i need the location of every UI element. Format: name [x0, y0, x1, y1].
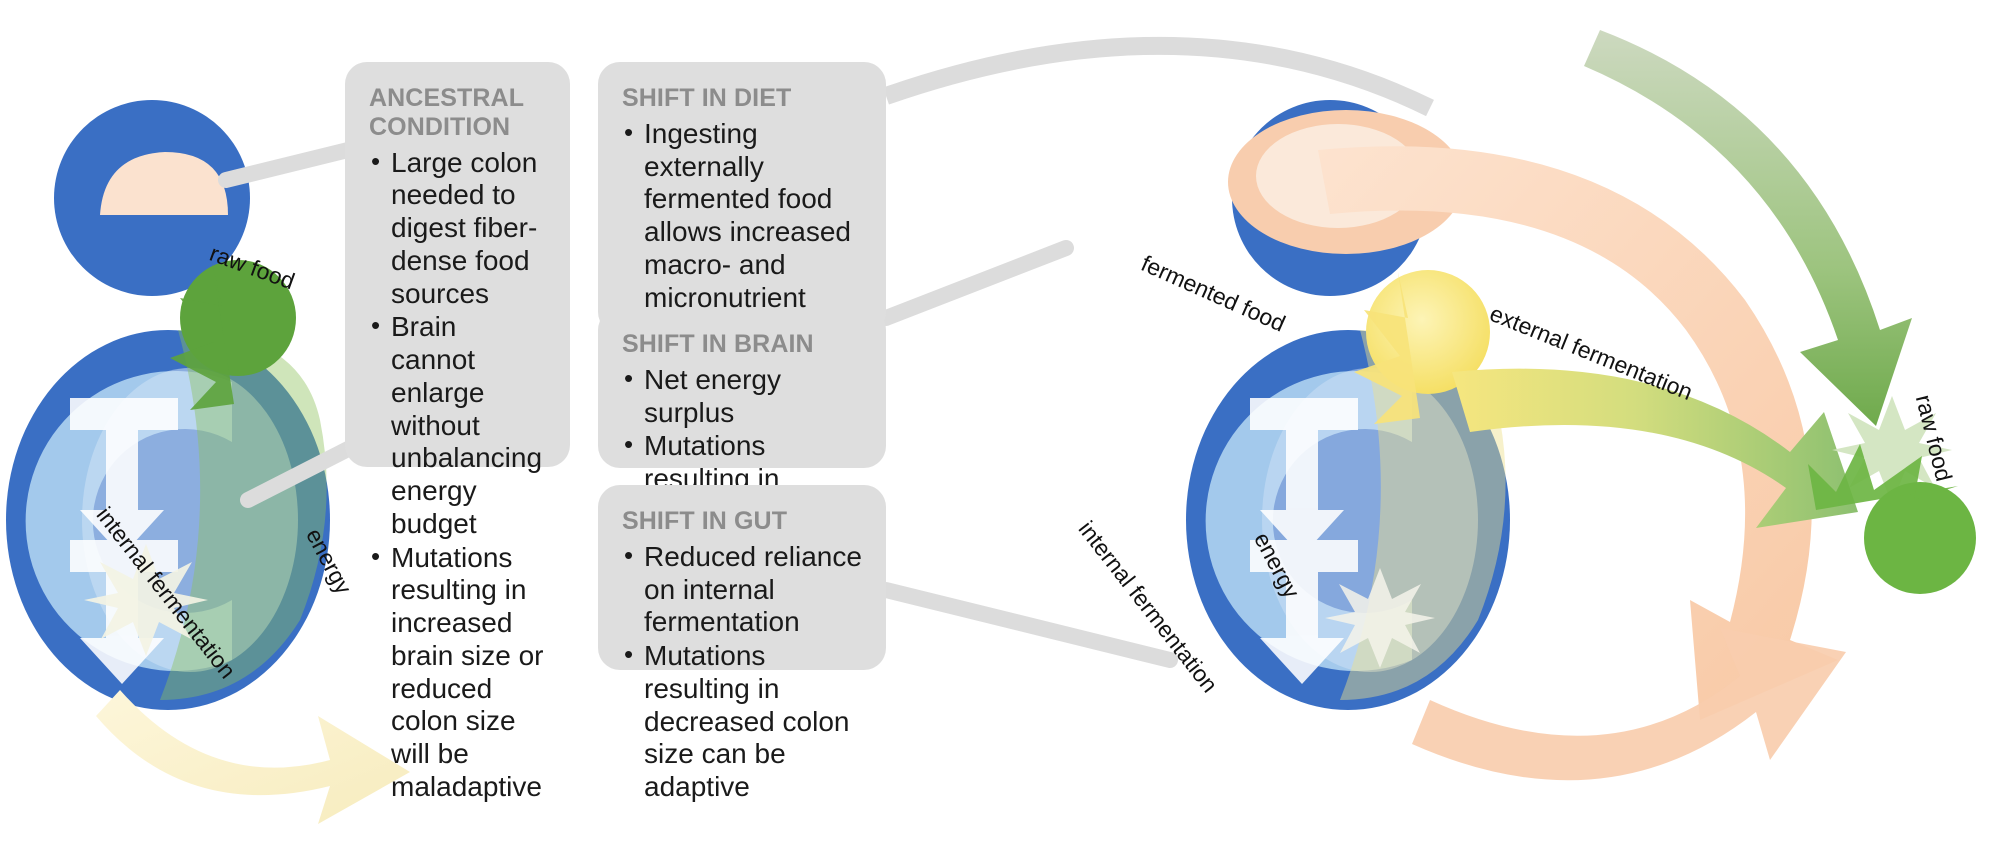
- callout-bullet-list: Large colon needed to digest fiber-dense…: [369, 147, 546, 804]
- callout-shift-in-diet[interactable]: SHIFT IN DIET Ingesting externally ferme…: [598, 62, 886, 334]
- list-item: Brain cannot enlarge without unbalancing…: [369, 311, 546, 540]
- callout-heading: ANCESTRAL CONDITION: [369, 84, 546, 142]
- callout-bullet-list: Reduced reliance on internal fermentatio…: [622, 541, 862, 804]
- list-item: Mutations resulting in decreased colon s…: [622, 640, 862, 804]
- connector-brain-to-right-head: [886, 248, 1066, 318]
- list-item: Net energy surplus: [622, 364, 862, 430]
- diagram-canvas: ANCESTRAL CONDITION Large colon needed t…: [0, 0, 2000, 862]
- callout-shift-in-gut[interactable]: SHIFT IN GUT Reduced reliance on interna…: [598, 485, 886, 670]
- callout-shift-in-brain[interactable]: SHIFT IN BRAIN Net energy surplus Mutati…: [598, 308, 886, 468]
- left-energy-arrow: [96, 690, 410, 824]
- right-organism: [1186, 30, 1976, 780]
- callout-heading: SHIFT IN DIET: [622, 84, 862, 113]
- list-item: Large colon needed to digest fiber-dense…: [369, 147, 546, 311]
- diagram-artwork: [0, 0, 2000, 862]
- right-energy-arrow: [1412, 628, 1846, 780]
- callout-heading: SHIFT IN BRAIN: [622, 330, 862, 359]
- callout-heading: SHIFT IN GUT: [622, 507, 862, 536]
- connector-diet-to-right-head: [886, 46, 1430, 108]
- list-item: Reduced reliance on internal fermentatio…: [622, 541, 862, 639]
- list-item: Mutations resulting in increased brain s…: [369, 542, 546, 804]
- connector-brain-to-ancestral: [226, 150, 348, 180]
- callout-ancestral-condition[interactable]: ANCESTRAL CONDITION Large colon needed t…: [345, 62, 570, 467]
